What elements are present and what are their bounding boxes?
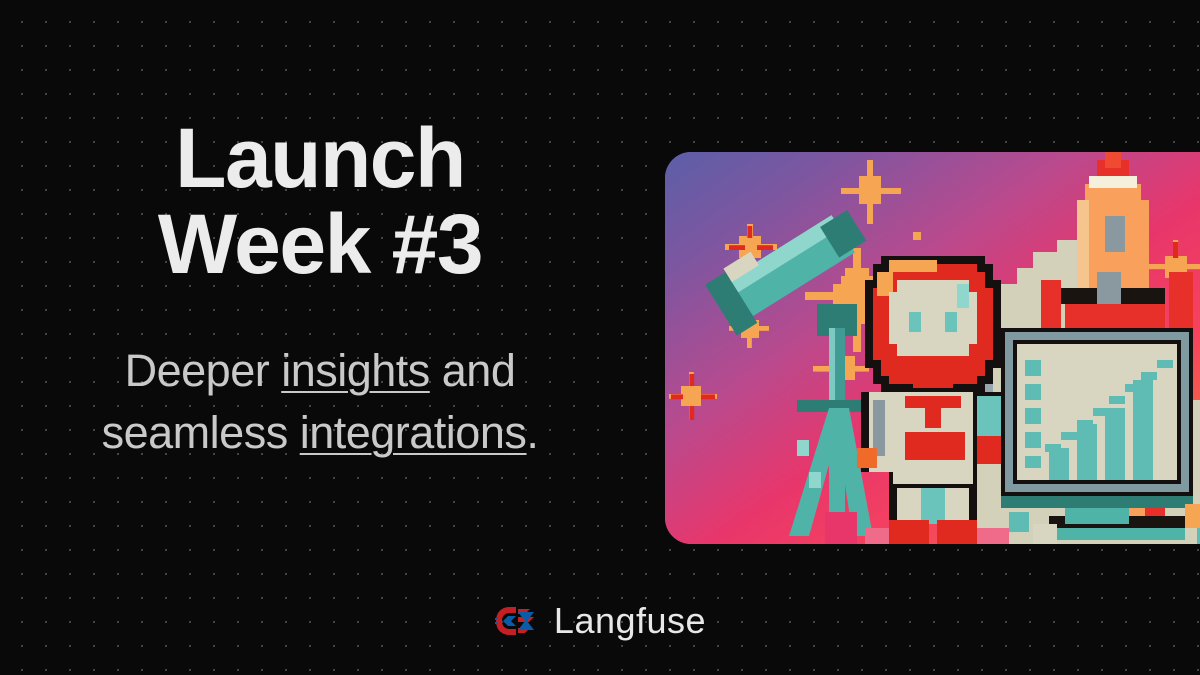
brand-logo: Langfuse [0, 600, 1200, 642]
brand-wordmark: Langfuse [554, 600, 706, 642]
subtitle-line-2: seamless integrations. [102, 402, 539, 464]
subtitle-line1-prefix: Deeper [125, 345, 282, 396]
subtitle-line1-suffix: and [430, 345, 516, 396]
text-column: Launch Week #3 Deeper insights and seaml… [0, 0, 640, 580]
subtitle-integrations-emphasis: integrations [300, 407, 527, 458]
page-subtitle: Deeper insights and seamless integration… [102, 340, 539, 464]
launch-artwork [665, 152, 1200, 544]
subtitle-line-1: Deeper insights and [102, 340, 539, 402]
star-dot-a [913, 232, 921, 240]
pixel-art-scene [665, 152, 1200, 544]
page-title: Launch Week #3 [158, 116, 482, 287]
analytics-monitor [1001, 328, 1193, 524]
subtitle-insights-emphasis: insights [281, 345, 430, 396]
langfuse-logo-icon [494, 603, 538, 639]
subtitle-line2-suffix: . [526, 407, 538, 458]
launch-week-banner: Launch Week #3 Deeper insights and seaml… [0, 0, 1200, 675]
subtitle-line2-prefix: seamless [102, 407, 300, 458]
